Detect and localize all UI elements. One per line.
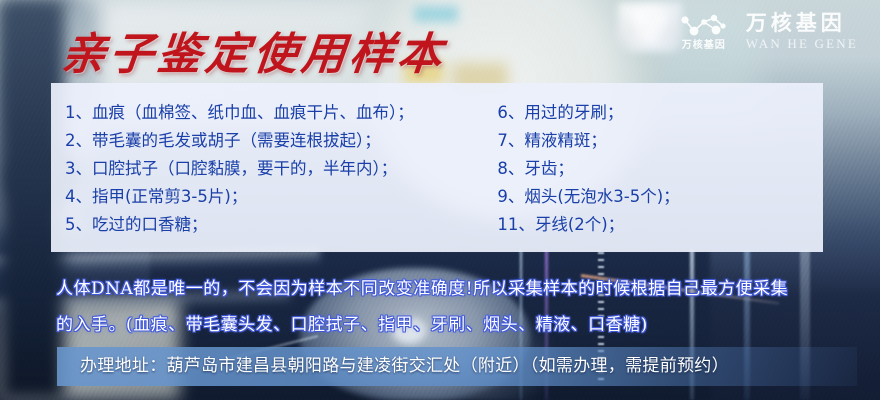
logo-mark-label: 万核基因 (682, 41, 726, 51)
sample-list-left-column: 1、血痕（血棉签、纸巾血、血痕干片、血布）； 2、带毛囊的毛发或胡子（需要连根拔… (51, 83, 485, 252)
brand-logo: 万核基因 万核基因 WAN HE GENE (678, 12, 858, 51)
poster-canvas: 亲子鉴定使用样本 (0, 0, 880, 400)
logo-name-cn: 万核基因 (746, 13, 858, 34)
list-item: 4、指甲(正常剪3-5片)； (65, 183, 485, 211)
note-paragraph: 人体DNA都是唯一的，不会因为样本不同改变准确度!所以采集样本的时候根据自己最方… (56, 274, 846, 346)
list-item: 6、用过的牙刷； (497, 99, 823, 127)
note-line-1: 人体DNA都是唯一的，不会因为样本不同改变准确度!所以采集样本的时候根据自己最方… (56, 274, 846, 304)
page-title: 亲子鉴定使用样本 (59, 18, 450, 82)
list-item: 1、血痕（血棉签、纸巾血、血痕干片、血布）； (65, 99, 485, 127)
note-line-2: 的入手。(血痕、带毛囊头发、口腔拭子、指甲、牙刷、烟头、精液、口香糖) (56, 310, 846, 340)
address-text: 办理地址：葫芦岛市建昌县朝阳路与建凌街交汇处（附近）（如需办理，需提前预约） (80, 352, 729, 381)
list-item: 3、口腔拭子（口腔黏膜，要干的，半年内）； (65, 155, 485, 183)
logo-mark: 万核基因 (678, 12, 730, 51)
list-item: 7、精液精斑； (497, 127, 823, 155)
sample-list-right-column: 6、用过的牙刷； 7、精液精斑； 8、牙齿； 9、烟头(无泡水3-5个)； 11… (485, 83, 823, 252)
sample-list-panel: 1、血痕（血棉签、纸巾血、血痕干片、血布）； 2、带毛囊的毛发或胡子（需要连根拔… (51, 83, 823, 252)
list-item: 8、牙齿； (497, 155, 823, 183)
molecule-network-icon (678, 12, 730, 40)
list-item: 5、吃过的口香糖； (65, 211, 485, 239)
list-item: 11、牙线(2个)； (497, 211, 823, 239)
list-item: 9、烟头(无泡水3-5个)； (497, 183, 823, 211)
logo-name-en: WAN HE GENE (746, 37, 858, 50)
logo-wordmark: 万核基因 WAN HE GENE (746, 13, 858, 50)
list-item: 2、带毛囊的毛发或胡子（需要连根拔起）； (65, 127, 485, 155)
